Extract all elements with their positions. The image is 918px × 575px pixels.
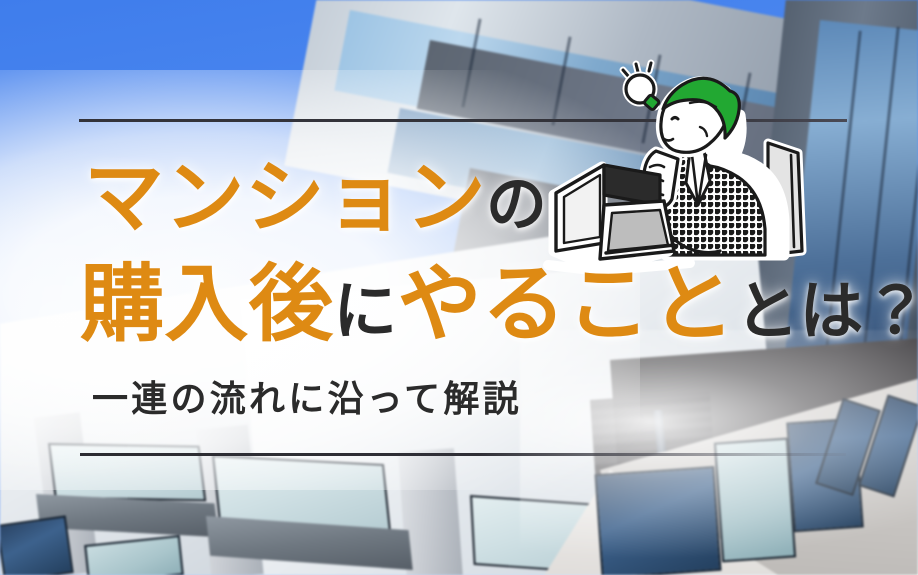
- divider-line-bottom: [80, 453, 846, 456]
- window-pane: [594, 466, 721, 575]
- person-thinking-at-laptop-illustration: [540, 55, 830, 285]
- balcony-glass-panel: [48, 443, 206, 501]
- article-hero-banner: マンションの 購入後にやることとは？ 一連の流れに沿って解説: [0, 0, 918, 575]
- window-pane: [0, 515, 74, 575]
- lightbulb-icon: [623, 63, 660, 110]
- window-pane: [714, 438, 796, 563]
